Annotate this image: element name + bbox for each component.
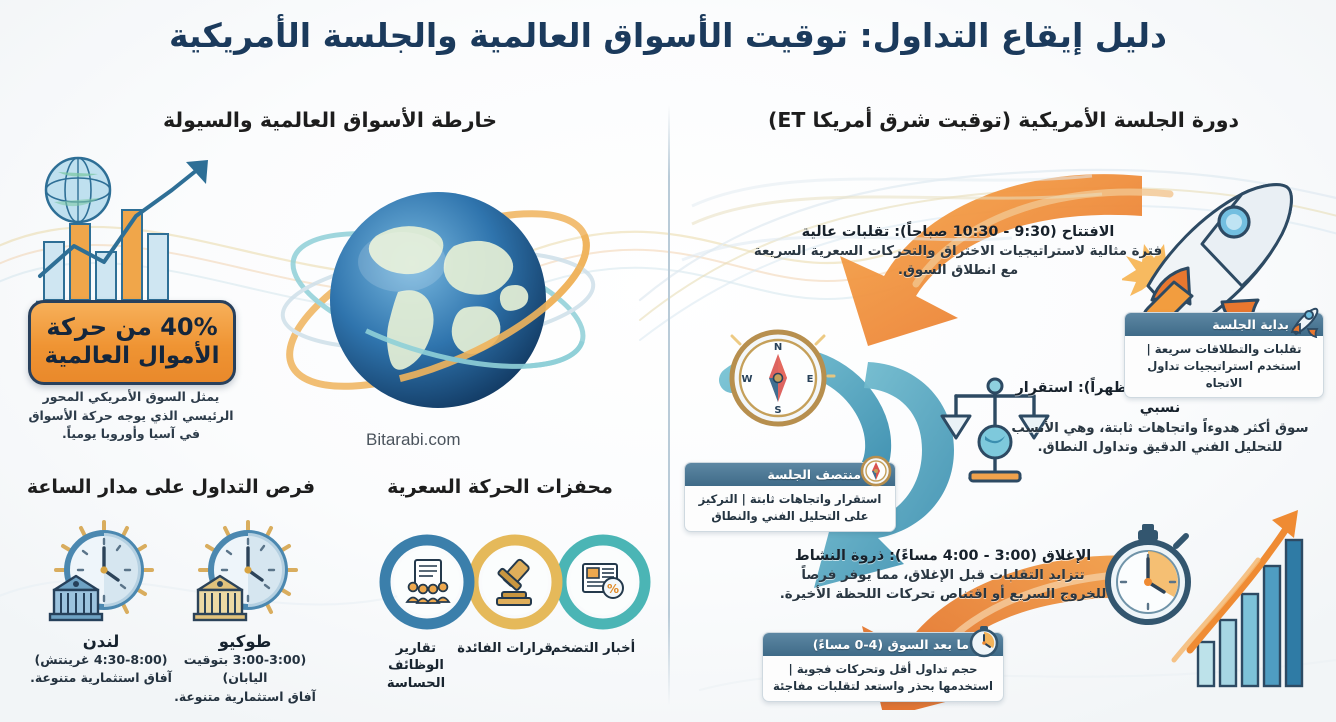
svg-text:S: S [774,405,781,416]
globe-orbit-illustration [272,150,602,450]
phase-open-body: فترة مثالية لاستراتيجيات الاختراق والتحر… [748,242,1168,280]
clock-bank-icon-tokyo [186,518,304,626]
city-tokyo-desc: آفاق استثمارية متنوعة. [170,688,320,706]
phase-midday-body: سوق أكثر هدوءاً واتجاهات ثابتة، وهي الأن… [1010,419,1310,457]
card-mid-session[interactable]: منتصف الجلسة استقرار واتجاهات ثابتة | ال… [684,462,896,532]
plate-note: يمثل السوق الأمريكي المحور الرئيسي الذي … [22,388,240,444]
right-section-heading: دورة الجلسة الأمريكية (توقيت شرق أمريكا … [676,108,1331,132]
driver-interest-rate: قرارات الفائدة [457,640,553,657]
city-london: لندن (4:30-8:00 غرينتش) آفاق استثمارية م… [26,632,176,687]
compass-icon: NS WE [718,318,838,438]
city-london-time: (4:30-8:00 غرينتش) [26,651,176,669]
card-after-market[interactable]: ما بعد السوق (4-0 مساءً) حجم تداول أقل و… [762,632,1004,702]
clocks-heading: فرص التداول على مدار الساعة [18,476,324,498]
column-divider [668,105,670,705]
newspaper-percent-icon: % [583,564,623,598]
driver-jobs-report-label: تقارير الوظائف الحساسة [368,640,464,692]
stopwatch-growth-icon [1102,500,1317,700]
driver-jobs-report: تقارير الوظائف الحساسة [368,640,464,692]
rocket-icon-badge [1287,304,1321,338]
card-after-market-header: ما بعد السوق (4-0 مساءً) [763,633,1003,656]
page-title: دليل إيقاع التداول: توقيت الأسواق العالم… [0,14,1336,58]
phase-close-body: تتزايد التقلبات قبل الإغلاق، مما يوفر فر… [778,566,1108,604]
card-session-start[interactable]: بداية الجلسة تقلبات والتطلاقات سريعة | ا… [1124,312,1324,398]
bar-chart-growth-illustration [26,150,256,320]
card-session-start-header: بداية الجلسة [1125,313,1323,336]
global-money-share-plate: 40% من حركة الأموال العالمية [28,300,236,385]
svg-text:W: W [741,374,752,385]
stopwatch-icon-badge [967,624,1001,658]
city-tokyo-name: طوكيو [170,632,320,651]
card-mid-session-body: استقرار واتجاهات ثابتة | التركيز على الت… [685,486,895,531]
svg-text:%: % [607,582,619,596]
driver-inflation-news: أخبار التضخم [545,640,641,657]
clock-bank-icon-london [42,518,160,626]
card-after-market-body: حجم تداول أقل وتحركات فجوية | استخدمها ب… [763,656,1003,701]
phase-open-headline: الافتتاح (9:30 - 10:30 صباحاً): تقلبات ع… [748,222,1168,242]
drivers-heading: محفزات الحركة السعرية [350,476,650,498]
card-session-start-title: بداية الجلسة [1212,317,1289,332]
svg-text:N: N [774,342,782,353]
left-section-heading: خارطة الأسواق العالمية والسيولة [0,108,660,132]
card-mid-session-title: منتصف الجلسة [767,467,861,482]
phase-close-text: الإغلاق (3:00 - 4:00 مساءً): ذروة النشاط… [778,546,1108,605]
plate-line-2: الأموال العالمية [41,342,223,370]
plate-line-1: 40% من حركة [41,313,223,342]
card-after-market-title: ما بعد السوق (4-0 مساءً) [813,637,969,652]
phase-close-headline: الإغلاق (3:00 - 4:00 مساءً): ذروة النشاط [778,546,1108,566]
driver-inflation-news-label: أخبار التضخم [545,640,641,657]
city-tokyo: طوكيو (3:00-3:00 بتوقيت اليابان) آفاق اس… [170,632,320,705]
watermark: Bitarabi.com [366,430,460,450]
card-mid-session-header: منتصف الجلسة [685,463,895,486]
price-drivers-rings: % [375,530,655,635]
compass-icon-badge [859,454,893,488]
driver-interest-rate-label: قرارات الفائدة [457,640,553,657]
city-tokyo-time: (3:00-3:00 بتوقيت اليابان) [170,651,320,688]
phase-open-text: الافتتاح (9:30 - 10:30 صباحاً): تقلبات ع… [748,222,1168,281]
svg-text:E: E [807,374,814,385]
infographic-root: دليل إيقاع التداول: توقيت الأسواق العالم… [0,0,1336,722]
city-london-desc: آفاق استثمارية متنوعة. [26,669,176,687]
city-london-name: لندن [26,632,176,651]
card-session-start-body: تقلبات والتطلاقات سريعة | استخدم استراتي… [1125,336,1323,397]
